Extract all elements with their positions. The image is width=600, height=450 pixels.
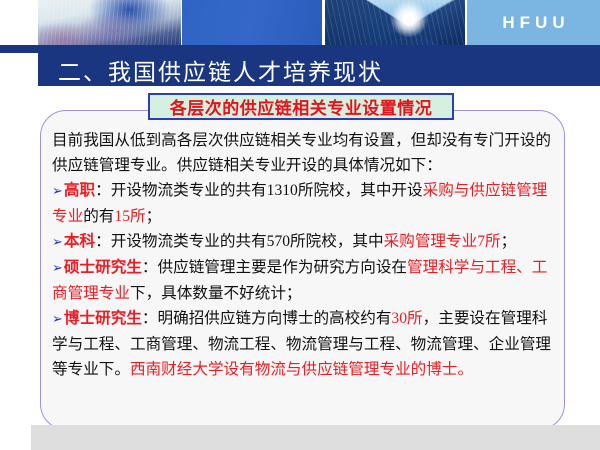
brand-logo-text: HFUU (467, 0, 600, 45)
text-run: 的有 (83, 208, 114, 225)
text-run: 采购管理专业7所 (384, 233, 501, 250)
footer-bar (31, 425, 600, 450)
text-run: 供应链管理主要是作为研究方向设在 (158, 259, 408, 276)
bullet-arrow-icon: ➢ (52, 261, 63, 276)
text-run: 本科 (64, 233, 95, 250)
blue-block (182, 0, 322, 45)
bullet-arrow-icon: ➢ (52, 312, 63, 327)
paragraph-vocational: ➢高职：开设物流类专业的共有1310所院校，其中开设采购与供应链管理专业的有15… (52, 178, 557, 229)
page-title: 二、我国供应链人才培养现状 (58, 53, 383, 87)
text-run: 博士研究生 (64, 310, 142, 327)
skyscraper-sky-photo (325, 0, 465, 45)
text-run: 15所 (114, 208, 145, 225)
paragraph-undergraduate: ➢本科：开设物流类专业的共有570所院校，其中采购管理专业7所； (52, 229, 557, 255)
text-run: 硕士研究生 (64, 259, 142, 276)
paragraph-doctoral: ➢博士研究生：明确招供应链方向博士的高校约有30所，主要设在管理科学与工程、工商… (52, 306, 557, 382)
text-run: ； (501, 233, 517, 250)
text-run: 高职 (64, 182, 95, 199)
slide-title-bar: 二、我国供应链人才培养现状 (38, 53, 600, 86)
text-run: ： (95, 182, 111, 199)
section-caption-box: 各层次的供应链相关专业设置情况 (148, 93, 454, 120)
section-caption-text: 各层次的供应链相关专业设置情况 (170, 94, 433, 119)
paragraph-masters: ➢硕士研究生：供应链管理主要是作为研究方向设在管理科学与工程、工商管理专业下，具… (52, 255, 557, 306)
text-run: 开设物流类专业的共有570所院校，其中 (111, 233, 384, 250)
text-run: ： (95, 233, 111, 250)
text-run: 开设物流类专业的共有1310所院校，其中开设 (111, 182, 423, 199)
text-run: ； (146, 208, 162, 225)
text-run: ： (142, 259, 158, 276)
keyboard-hands-photo (38, 0, 181, 45)
text-run: 目前我国从低到高各层次供应链相关专业均有设置，但却没有专门开设的供应链管理专业。… (52, 132, 551, 174)
bullet-arrow-icon: ➢ (52, 235, 63, 250)
bullet-arrow-icon: ➢ (52, 184, 63, 199)
text-run: 30所 (391, 310, 422, 327)
text-run: 下，具体数量不好统计； (130, 285, 302, 302)
paragraph-intro: 目前我国从低到高各层次供应链相关专业均有设置，但却没有专门开设的供应链管理专业。… (52, 128, 557, 178)
header-banner: HFUU (0, 0, 600, 45)
slide: HFUU 二、我国供应链人才培养现状 各层次的供应链相关专业设置情况 目前我国从… (0, 0, 600, 450)
text-run: 明确招供应链方向博士的高校约有 (158, 310, 392, 327)
text-run: ： (142, 310, 158, 327)
body-text: 目前我国从低到高各层次供应链相关专业均有设置，但却没有专门开设的供应链管理专业。… (52, 128, 557, 382)
text-run: 西南财经大学设有物流与供应链管理专业的博士。 (130, 361, 473, 378)
